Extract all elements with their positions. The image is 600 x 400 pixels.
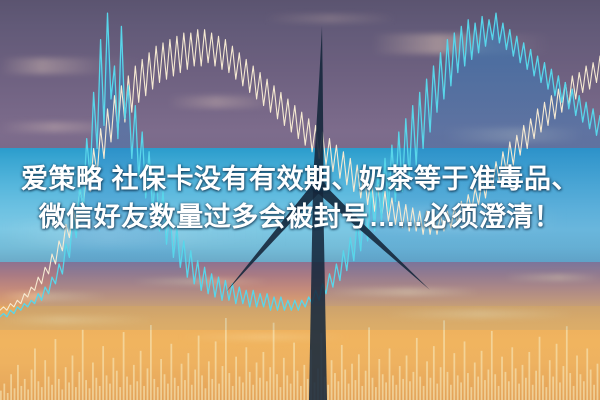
banner-image: 爱策略 社保卡没有有效期、奶茶等于准毒品、微信好友数量过多会被封号……必须澄清！	[0, 0, 600, 400]
headline-text: 爱策略 社保卡没有有效期、奶茶等于准毒品、微信好友数量过多会被封号……必须澄清！	[0, 160, 600, 236]
